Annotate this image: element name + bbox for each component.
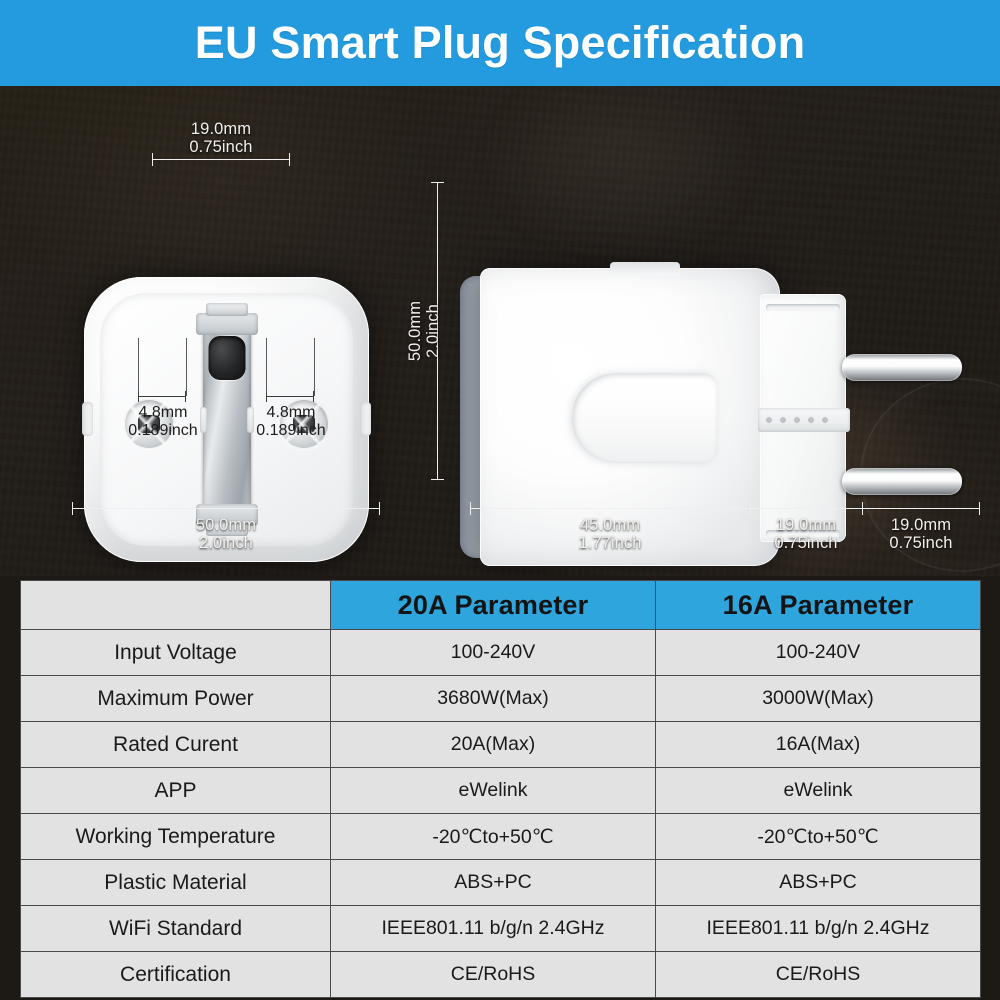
row-value-20a: 100-240V xyxy=(331,630,656,676)
row-value-16a: eWelink xyxy=(656,768,981,814)
side-bottom-tick-b xyxy=(862,502,863,515)
front-pin-left-dim-mm: 4.8mm xyxy=(108,404,218,422)
table-row: Input Voltage 100-240V 100-240V xyxy=(21,630,981,676)
row-value-20a: 3680W(Max) xyxy=(331,676,656,722)
front-top-dim-inch: 0.75inch xyxy=(152,138,290,156)
row-label: Rated Curent xyxy=(21,722,331,768)
front-width-dim-mm: 50.0mm xyxy=(72,516,380,534)
side-neck-dim-inch: 0.75inch xyxy=(750,534,862,552)
page-title: EU Smart Plug Specification xyxy=(195,17,806,69)
front-width-dim-inch: 2.0inch xyxy=(72,534,380,552)
front-pin-right-dim-line xyxy=(266,396,314,397)
table-row: Working Temperature -20℃to+50℃ -20℃to+50… xyxy=(21,814,981,860)
side-prong-dim-mm: 19.0mm xyxy=(862,516,980,534)
table-row: Rated Curent 20A(Max) 16A(Max) xyxy=(21,722,981,768)
front-notch-right xyxy=(360,402,371,436)
row-value-20a: eWelink xyxy=(331,768,656,814)
side-height-dim-inch: 2.0inch xyxy=(424,251,442,411)
page-banner: EU Smart Plug Specification xyxy=(0,0,1000,86)
row-label: Certification xyxy=(21,952,331,998)
neck-groove-top xyxy=(766,304,840,311)
specification-table: 20A Parameter 16A Parameter Input Voltag… xyxy=(20,580,981,998)
side-body-dim-inch: 1.77inch xyxy=(470,534,750,552)
row-label: Maximum Power xyxy=(21,676,331,722)
table-row: WiFi Standard IEEE801.11 b/g/n 2.4GHz IE… xyxy=(21,906,981,952)
side-bottom-tick-a xyxy=(750,502,751,515)
table-header-blank xyxy=(21,581,331,630)
product-spec-page: EU Smart Plug Specification 19.0mm xyxy=(0,0,1000,1000)
row-value-20a: IEEE801.11 b/g/n 2.4GHz xyxy=(331,906,656,952)
front-pin-left-lead-b xyxy=(186,338,187,396)
front-pin-left-dim-line xyxy=(138,396,186,397)
row-value-16a: IEEE801.11 b/g/n 2.4GHz xyxy=(656,906,981,952)
front-width-dim-line xyxy=(72,508,380,509)
row-label: WiFi Standard xyxy=(21,906,331,952)
earth-pin-hole xyxy=(208,336,245,380)
row-label: APP xyxy=(21,768,331,814)
side-body-dim-mm: 45.0mm xyxy=(470,516,750,534)
side-prong-dim-inch: 0.75inch xyxy=(862,534,980,552)
side-socket-recess xyxy=(572,373,717,463)
earth-strip-top-cap xyxy=(206,303,248,316)
side-bottom-dim-line xyxy=(470,508,980,509)
front-pin-right-dim-inch: 0.189inch xyxy=(236,422,346,440)
row-value-20a: -20℃to+50℃ xyxy=(331,814,656,860)
row-value-16a: -20℃to+50℃ xyxy=(656,814,981,860)
table-row: Certification CE/RoHS CE/RoHS xyxy=(21,952,981,998)
table-row: Plastic Material ABS+PC ABS+PC xyxy=(21,860,981,906)
row-value-16a: 16A(Max) xyxy=(656,722,981,768)
neck-band-dots xyxy=(764,416,834,425)
front-pin-left-lead-a xyxy=(138,338,139,396)
product-photo-stage: 19.0mm 0.75inch 4.8mm 0.189inch 4.8mm 0.… xyxy=(0,86,1000,576)
table-row: Maximum Power 3680W(Max) 3000W(Max) xyxy=(21,676,981,722)
table-header-16a: 16A Parameter xyxy=(656,581,981,630)
row-value-16a: 100-240V xyxy=(656,630,981,676)
side-height-dim-mm: 50.0mm xyxy=(406,251,424,411)
power-prong-top xyxy=(842,354,962,381)
earth-strip-top-plate xyxy=(196,313,258,335)
row-value-16a: CE/RoHS xyxy=(656,952,981,998)
power-prong-bottom xyxy=(842,468,962,495)
front-pin-right-lead-a xyxy=(266,338,267,396)
table-header-row: 20A Parameter 16A Parameter xyxy=(21,581,981,630)
side-neck-dim-mm: 19.0mm xyxy=(750,516,862,534)
row-label: Input Voltage xyxy=(21,630,331,676)
row-label: Working Temperature xyxy=(21,814,331,860)
side-top-tab xyxy=(610,262,680,276)
row-value-20a: ABS+PC xyxy=(331,860,656,906)
stage-glow-b xyxy=(520,106,720,216)
row-label: Plastic Material xyxy=(21,860,331,906)
table-header-20a: 20A Parameter xyxy=(331,581,656,630)
row-value-16a: 3000W(Max) xyxy=(656,676,981,722)
row-value-20a: 20A(Max) xyxy=(331,722,656,768)
front-pin-left-dim-inch: 0.189inch xyxy=(108,422,218,440)
row-value-20a: CE/RoHS xyxy=(331,952,656,998)
front-pin-right-dim-mm: 4.8mm xyxy=(236,404,346,422)
row-value-16a: ABS+PC xyxy=(656,860,981,906)
table-row: APP eWelink eWelink xyxy=(21,768,981,814)
table-body: Input Voltage 100-240V 100-240V Maximum … xyxy=(21,630,981,998)
front-top-dim-line xyxy=(152,159,290,160)
front-pin-right-lead-b xyxy=(314,338,315,396)
front-notch-left xyxy=(82,402,93,436)
front-top-dim-mm: 19.0mm xyxy=(152,120,290,138)
